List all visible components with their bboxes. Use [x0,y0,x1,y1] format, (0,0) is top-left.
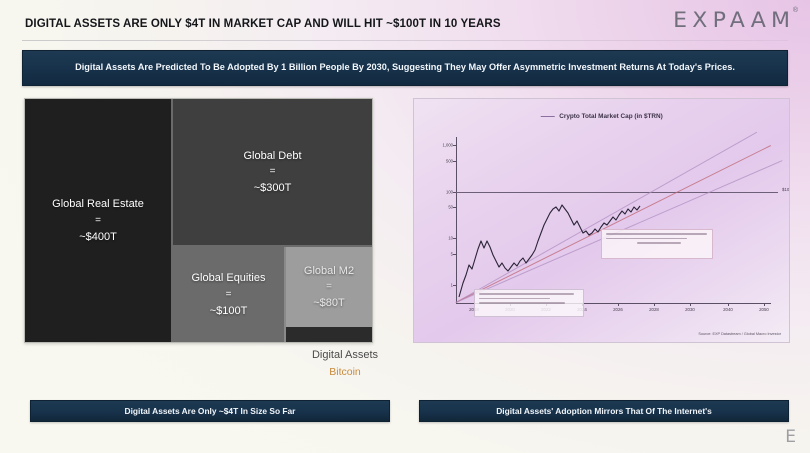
tile-equals: = [326,279,332,295]
treemap-tile-global-equities: Global Equities = ~$100T [173,247,286,342]
y-tick-label: 1,000 [443,143,453,148]
x-tick-label: 2028 [649,307,659,312]
registered-mark-icon: ® [793,7,798,14]
legend-series-label: Crypto Total Market Cap (in $TRN) [559,113,663,120]
tile-label: Global Debt [243,148,301,165]
expaam-logo: EXPAAM [673,8,795,32]
chart-legend: Crypto Total Market Cap (in $TRN) [540,113,663,120]
tile-equals: = [95,213,101,229]
x-tick-label: 2026 [613,307,623,312]
treemap-tile-global-real-estate: Global Real Estate = ~$400T [25,99,173,342]
chart-source-note: Source: EXP Datastream / Global Macro In… [698,332,781,336]
legend-line-swatch [540,116,554,118]
crypto-market-cap-series [456,137,756,303]
slide-canvas: DIGITAL ASSETS ARE ONLY $4T IN MARKET CA… [0,0,810,453]
x-tick-label: 2040 [723,307,733,312]
x-tick-mark [618,303,619,306]
annotation-box-lower [474,289,584,317]
y-tick-label: 100 [446,190,453,195]
treemap-tile-global-m2: Global M2 = ~$80T [286,247,372,327]
tile-label: Global Real Estate [52,196,144,213]
slide-header: DIGITAL ASSETS ARE ONLY $4T IN MARKET CA… [0,0,810,40]
tile-value: ~$100T [210,303,248,320]
tile-equals: = [226,287,232,303]
headline-banner-text: Digital Assets Are Predicted To Be Adopt… [75,61,735,74]
tile-label: Global M2 [304,263,354,280]
tile-value: ~$400T [79,229,117,246]
headline-banner: Digital Assets Are Predicted To Be Adopt… [22,50,788,86]
x-tick-mark [728,303,729,306]
crypto-market-cap-chart: Crypto Total Market Cap (in $TRN) 1,000 … [413,98,790,343]
x-tick-label: 2050 [759,307,769,312]
x-tick-mark [690,303,691,306]
caption-left-text: Digital Assets Are Only ~$4T In Size So … [125,406,296,416]
caption-banner-left: Digital Assets Are Only ~$4T In Size So … [30,400,390,422]
caption-banner-right: Digital Assets' Adoption Mirrors That Of… [419,400,789,422]
tile-equals: = [270,164,276,180]
asset-class-treemap: Global Real Estate = ~$400T Global Debt … [24,98,373,343]
treemap-tile-global-debt: Global Debt = ~$300T [173,99,372,247]
page-title: DIGITAL ASSETS ARE ONLY $4T IN MARKET CA… [25,18,501,30]
expaam-watermark-icon: E [785,427,796,447]
legend-digital-assets: Digital Assets [290,347,400,364]
x-tick-mark [654,303,655,306]
header-divider [22,40,788,41]
treemap-legend: Digital Assets Bitcoin [290,347,400,380]
x-tick-mark [764,303,765,306]
tile-value: ~$300T [254,180,292,197]
annotation-box-upper [601,229,713,259]
caption-right-text: Digital Assets' Adoption Mirrors That Of… [496,406,712,416]
chart-plot-area: 1,000 500 100 50 10 5 1 $100 Trn [456,137,756,303]
tile-label: Global Equities [192,270,266,287]
y-tick-label: 500 [446,159,453,164]
x-tick-label: 2030 [685,307,695,312]
reference-line-label: $100 Trn [782,187,790,192]
tile-value: ~$80T [313,295,345,312]
legend-bitcoin: Bitcoin [290,364,400,380]
